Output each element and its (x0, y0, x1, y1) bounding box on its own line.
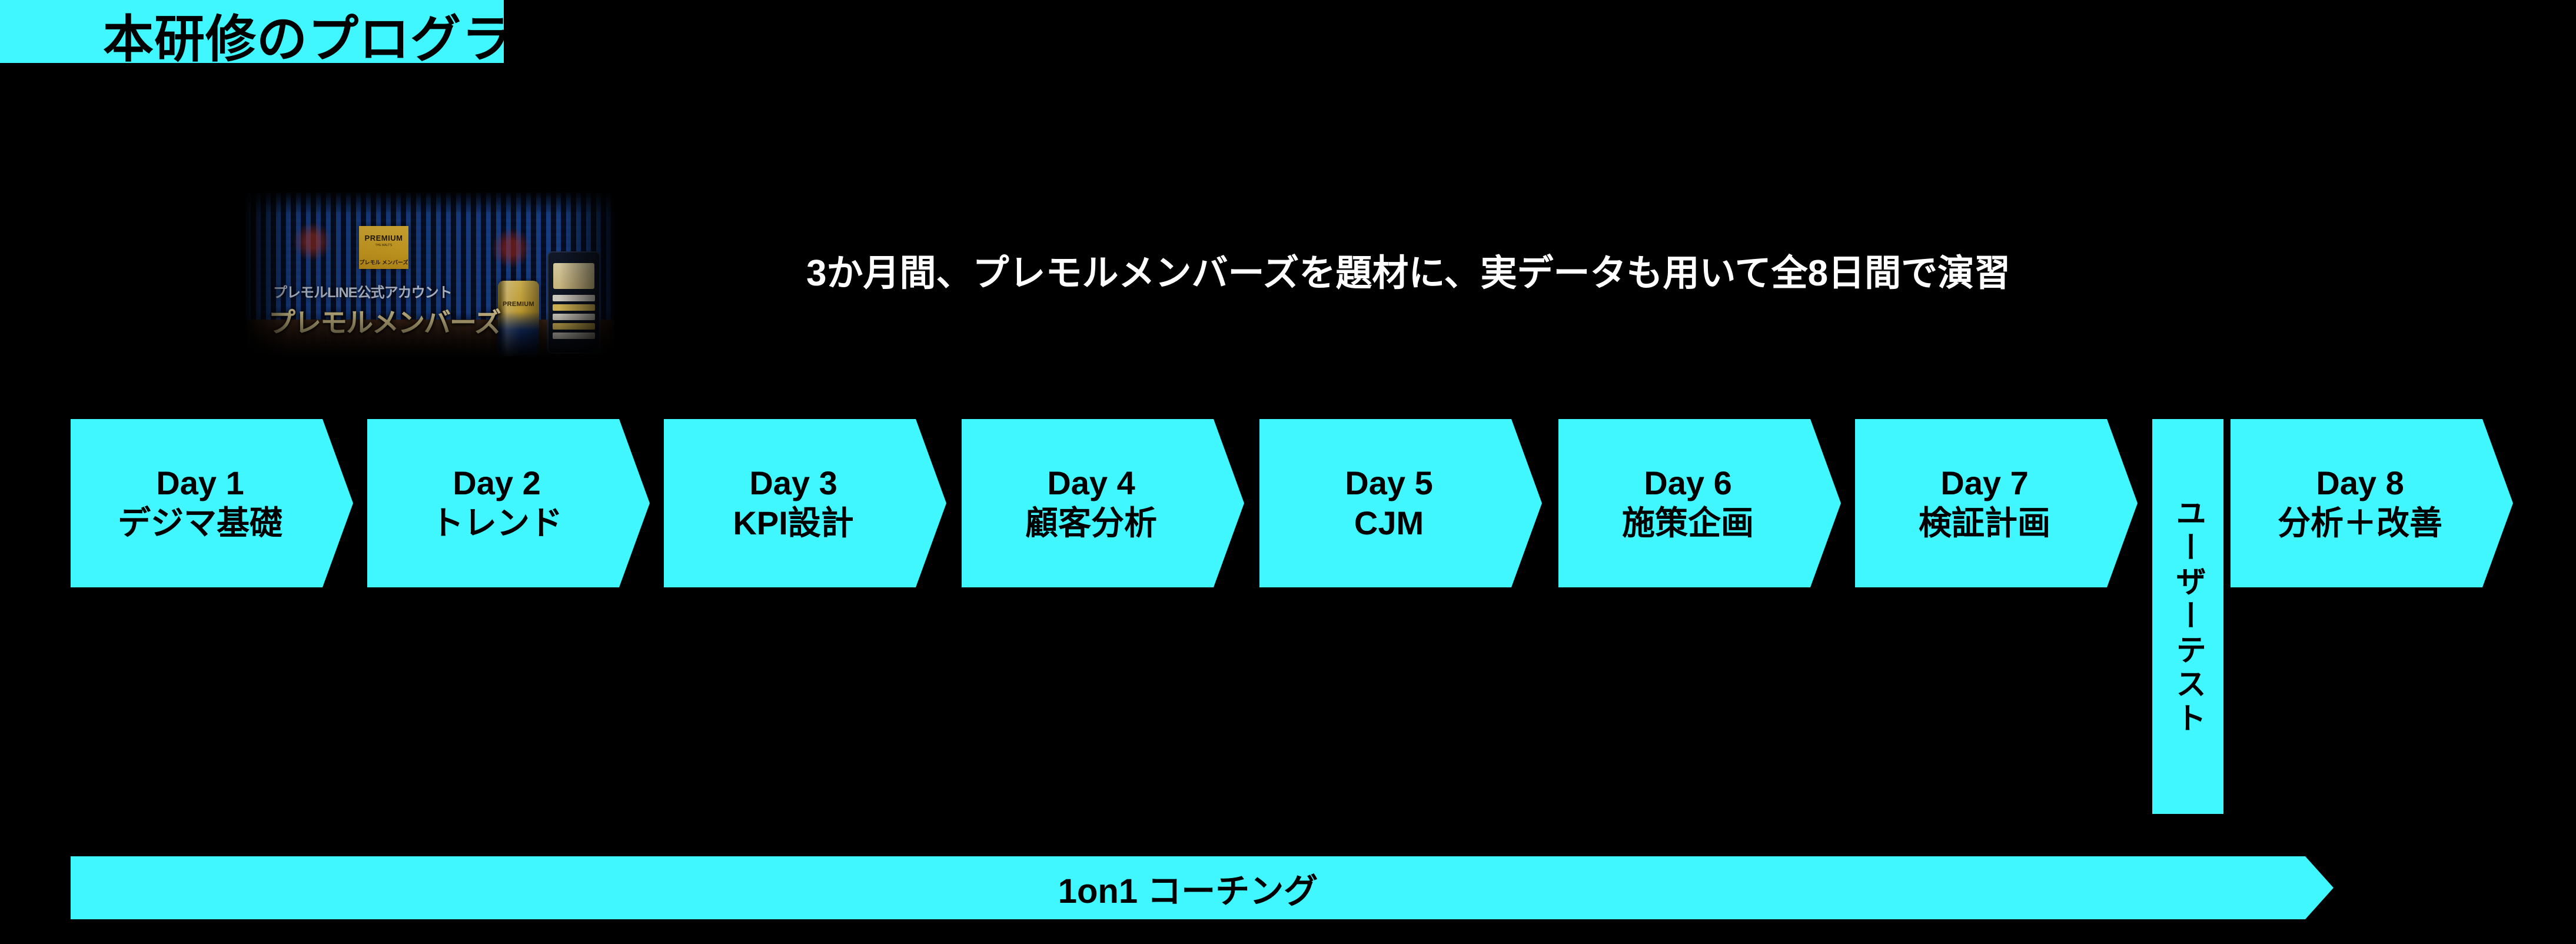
chevron-day-label: Day 6 (1644, 467, 1731, 500)
chevron-day-label: Day 4 (1047, 467, 1135, 500)
chevron-day-4[interactable]: Day 4 顧客分析 (962, 419, 1244, 587)
chevron-day-label: Day 3 (749, 467, 837, 500)
chevron-day-1[interactable]: Day 1 デジマ基礎 (71, 419, 353, 587)
chevron-day-topic: KPI設計 (733, 507, 853, 540)
user-test-label: ユーザーテスト (2173, 497, 2203, 736)
chevron-day-label: Day 1 (156, 467, 244, 500)
subtitle-text: 3か月間、プレモルメンバーズを題材に、実データも用いて全8日間で演習 (806, 243, 2010, 296)
chevron-day-8[interactable]: Day 8 分析＋改善 (2231, 419, 2513, 587)
chevron-day-topic: デジマ基礎 (118, 507, 282, 540)
chevron-day-topic: 顧客分析 (1025, 507, 1157, 540)
chevron-day-label: Day 2 (453, 467, 540, 500)
chevron-day-label: Day 5 (1345, 467, 1432, 500)
chevron-day-7[interactable]: Day 7 検証計画 (1855, 419, 2138, 587)
chevron-day-topic: CJM (1354, 507, 1424, 540)
chevron-day-topic: トレンド (431, 507, 563, 540)
chevron-day-5[interactable]: Day 5 CJM (1259, 419, 1542, 587)
chevron-day-label: Day 7 (1940, 467, 2028, 500)
coaching-bar-label: 1on1 コーチング (1058, 863, 1318, 913)
chevron-day-topic: 分析＋改善 (2278, 507, 2442, 540)
thumbnail-vignette (246, 192, 614, 356)
chevron-day-topic: 検証計画 (1919, 507, 2050, 540)
page-title: 本研修のプログラム (103, 13, 504, 63)
chevron-day-label: Day 8 (2316, 467, 2404, 500)
premol-members-thumbnail: PREMIUM THE MALT'S プレモル メンバーズ PREMIUM プレ… (246, 192, 614, 356)
coaching-bar[interactable]: 1on1 コーチング (71, 856, 2334, 919)
chevron-day-6[interactable]: Day 6 施策企画 (1558, 419, 1841, 587)
title-banner: 本研修のプログラム (0, 0, 504, 63)
chevron-day-2[interactable]: Day 2 トレンド (367, 419, 650, 587)
chevron-day-topic: 施策企画 (1622, 507, 1754, 540)
user-test-vertical-bar[interactable]: ユーザーテスト (2152, 419, 2223, 814)
chevron-day-3[interactable]: Day 3 KPI設計 (664, 419, 946, 587)
